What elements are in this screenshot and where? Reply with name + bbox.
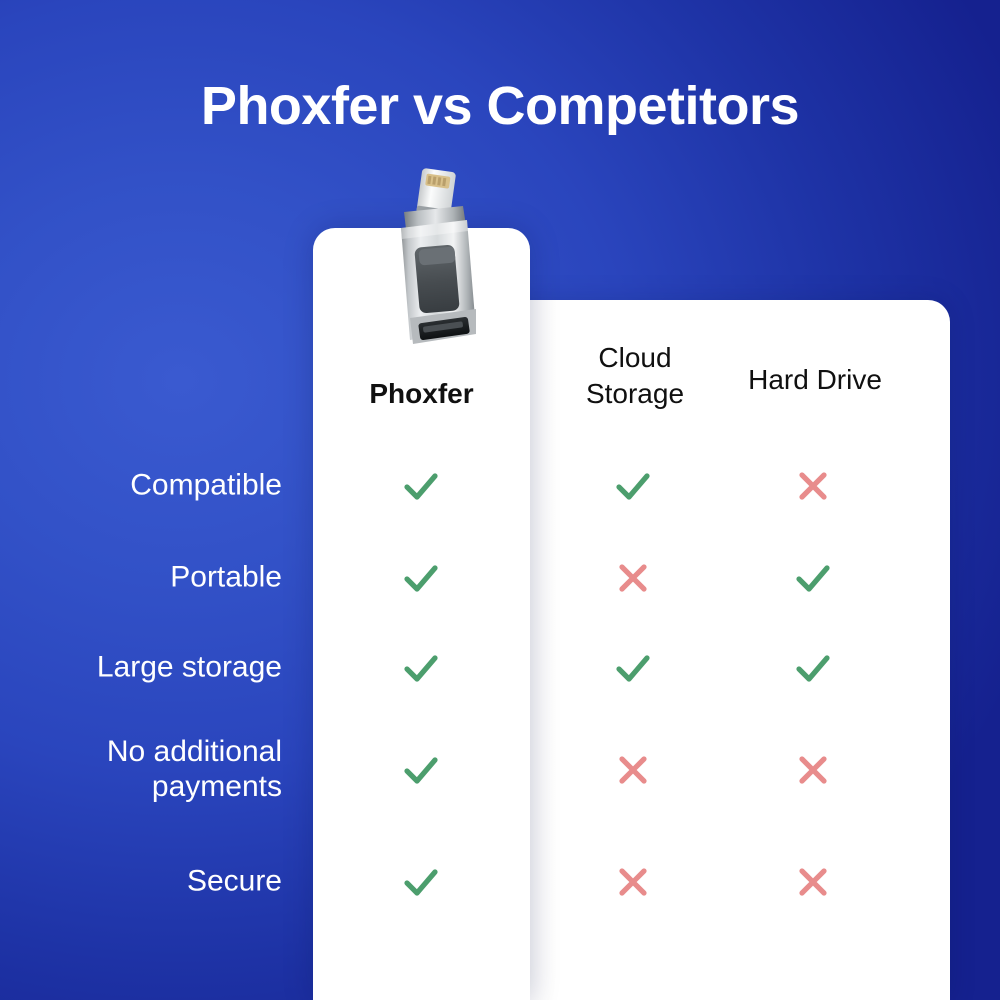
check-icon xyxy=(399,860,443,904)
column-header-hard-drive: Hard Drive xyxy=(725,362,905,398)
cross-icon xyxy=(611,556,655,600)
check-icon xyxy=(399,556,443,600)
row-label: Compatible xyxy=(0,469,282,504)
page-title: Phoxfer vs Competitors xyxy=(0,78,1000,135)
cross-icon xyxy=(791,748,835,792)
cross-icon xyxy=(791,860,835,904)
comparison-infographic: Phoxfer vs Competitors xyxy=(0,0,1000,1000)
cross-icon xyxy=(791,464,835,508)
check-icon xyxy=(791,646,835,690)
check-icon xyxy=(399,646,443,690)
check-icon xyxy=(791,556,835,600)
cross-icon xyxy=(611,748,655,792)
row-label: No additional payments xyxy=(0,735,282,805)
check-icon xyxy=(399,748,443,792)
row-label: Large storage xyxy=(0,651,282,686)
check-icon xyxy=(399,464,443,508)
check-icon xyxy=(611,464,655,508)
column-header-cloud-storage: Cloud Storage xyxy=(540,340,730,412)
column-header-phoxfer: Phoxfer xyxy=(313,376,530,412)
check-icon xyxy=(611,646,655,690)
usb-flash-drive-image xyxy=(377,168,479,353)
row-label: Portable xyxy=(0,561,282,596)
row-label: Secure xyxy=(0,865,282,900)
cross-icon xyxy=(611,860,655,904)
